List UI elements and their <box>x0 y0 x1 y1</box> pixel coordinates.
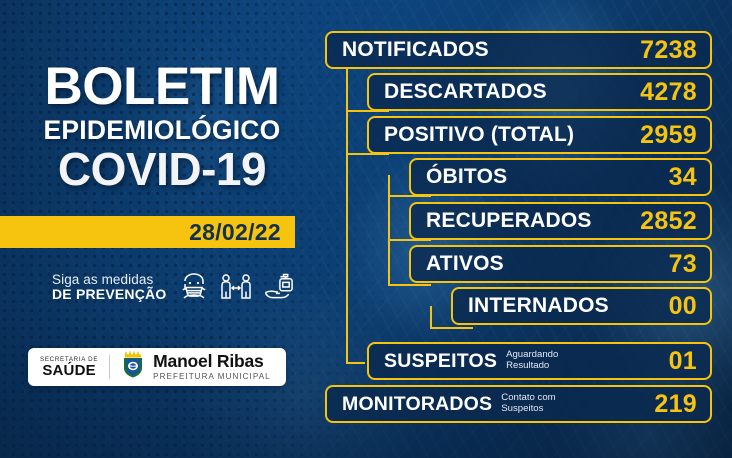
stat-value-descartados: 4278 <box>640 78 697 107</box>
statistics-tree: NOTIFICADOS7238DESCARTADOS4278POSITIVO (… <box>0 0 732 458</box>
stat-label-recuperados: RECUPERADOS <box>426 209 592 233</box>
stat-row-positivo: POSITIVO (TOTAL)2959 <box>367 116 712 154</box>
stat-subtitle-monitorados: Contato com Suspeitos <box>501 393 555 415</box>
stat-value-suspeitos: 01 <box>669 347 697 376</box>
stat-row-ativos: ATIVOS73 <box>409 245 712 283</box>
stat-row-recuperados: RECUPERADOS2852 <box>409 202 712 240</box>
covid-bulletin-poster: BOLETIM EPIDEMIOLÓGICO COVID-19 28/02/22… <box>0 0 732 458</box>
stat-value-ativos: 73 <box>669 250 697 279</box>
stat-row-descartados: DESCARTADOS4278 <box>367 73 712 111</box>
stat-value-monitorados: 219 <box>654 390 697 419</box>
stat-label-obitos: ÓBITOS <box>426 165 507 189</box>
stat-label-positivo: POSITIVO (TOTAL) <box>384 123 574 147</box>
stat-value-notificados: 7238 <box>640 36 697 65</box>
stat-row-obitos: ÓBITOS34 <box>409 158 712 196</box>
stat-subtitle-suspeitos: Aguardando Resultado <box>506 350 558 372</box>
stat-row-notificados: NOTIFICADOS7238 <box>325 31 712 69</box>
stat-value-recuperados: 2852 <box>640 207 697 236</box>
stat-label-notificados: NOTIFICADOS <box>342 38 489 62</box>
stat-value-internados: 00 <box>669 292 697 321</box>
stat-label-internados: INTERNADOS <box>468 294 609 318</box>
stat-row-monitorados: MONITORADOSContato com Suspeitos219 <box>325 385 712 423</box>
stat-value-obitos: 34 <box>669 163 697 192</box>
stat-label-descartados: DESCARTADOS <box>384 80 547 104</box>
stat-label-ativos: ATIVOS <box>426 252 504 276</box>
stat-row-suspeitos: SUSPEITOSAguardando Resultado01 <box>367 342 712 380</box>
stat-label-monitorados: MONITORADOS <box>342 393 492 416</box>
stat-row-internados: INTERNADOS00 <box>451 287 712 325</box>
stat-value-positivo: 2959 <box>640 121 697 150</box>
stat-label-suspeitos: SUSPEITOS <box>384 350 497 373</box>
